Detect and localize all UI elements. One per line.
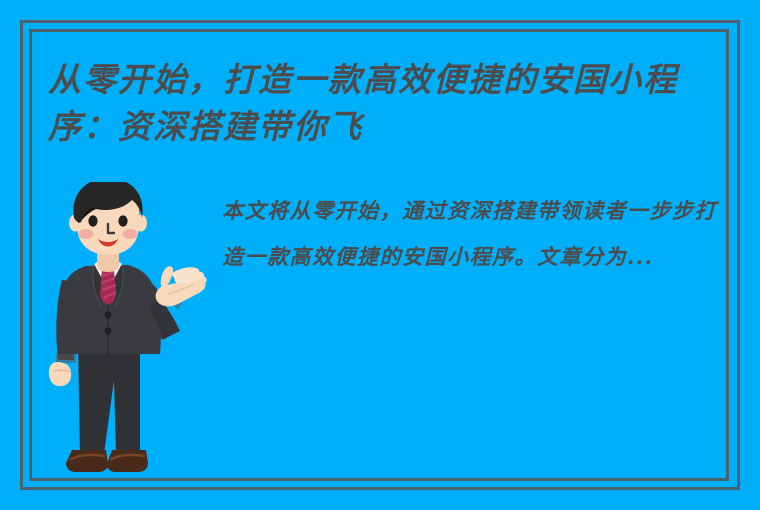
eye-right <box>118 215 127 226</box>
head-shape <box>69 182 147 255</box>
businessman-presenting-illustration <box>44 182 224 482</box>
cheek-right <box>123 229 138 239</box>
article-cover-card: 从零开始，打造一款高效便捷的安国小程序：资深搭建带你飞 本文将从零开始，通过资深… <box>0 0 760 510</box>
shoes-shape <box>66 450 148 472</box>
page-title: 从零开始，打造一款高效便捷的安国小程序：资深搭建带你飞 <box>48 56 738 150</box>
trousers-shape <box>78 337 140 454</box>
cheek-left <box>79 229 94 239</box>
article-summary-text: 本文将从零开始，通过资深搭建带领读者一步步打造一款高效便捷的安国小程序。文章分为… <box>222 188 722 280</box>
eye-left <box>88 215 97 226</box>
